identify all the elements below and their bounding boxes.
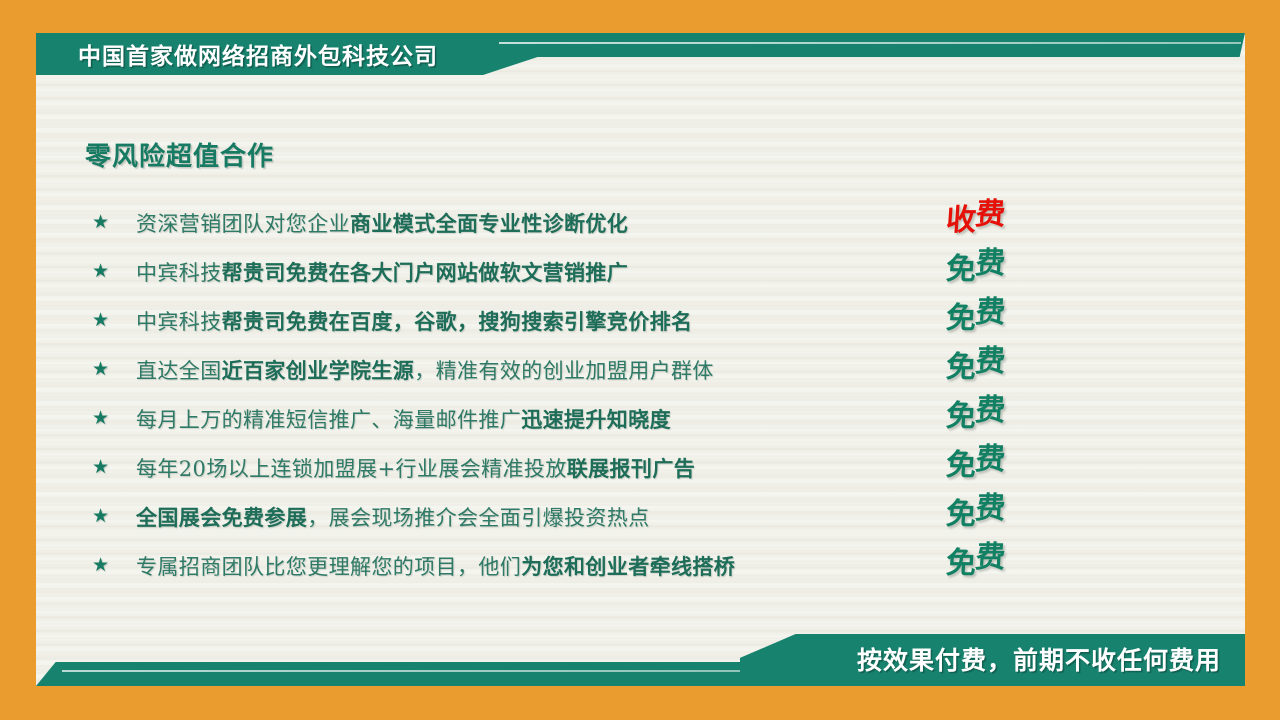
slide-root: 中国首家做网络招商外包科技公司 零风险超值合作 ★资深营销团队对您企业商业模式全… [0,0,1280,720]
benefit-text-emphasis: 为您和创业者牵线搭桥 [521,554,735,579]
benefit-text-emphasis: 联展报刊广告 [567,456,695,481]
fee-row: 免费 [946,245,1066,294]
footer-band: 按效果付费，前期不收任何费用 [36,634,1245,686]
benefit-text: 中宾科技帮贵司免费在各大门户网站做软文营销推广 [136,257,952,287]
star-icon: ★ [92,556,136,575]
fee-badge-free: 免费 [945,353,1005,383]
fee-row: 免费 [946,441,1066,490]
star-icon: ★ [92,311,136,330]
footer-green-strip [36,662,856,686]
benefit-text: 中宾科技帮贵司免费在百度，谷歌，搜狗搜索引擎竞价排名 [136,306,952,336]
footer-green-block: 按效果付费，前期不收任何费用 [740,634,1245,686]
star-icon: ★ [92,409,136,428]
star-icon: ★ [92,458,136,477]
benefit-row: ★中宾科技帮贵司免费在各大门户网站做软文营销推广 [92,247,952,296]
fee-badge-free: 免费 [945,304,1005,334]
benefit-row: ★专属招商团队比您更理解您的项目，他们为您和创业者牵线搭桥 [92,541,952,590]
fee-row: 免费 [946,392,1066,441]
fee-row: 收费 [946,196,1066,245]
benefit-row: ★每年20场以上连锁加盟展+行业展会精准投放联展报刊广告 [92,443,952,492]
star-icon: ★ [92,360,136,379]
fee-badge-free: 免费 [945,255,1005,285]
fee-row: 免费 [946,539,1066,588]
header-title: 中国首家做网络招商外包科技公司 [78,37,438,71]
benefit-list: ★资深营销团队对您企业商业模式全面专业性诊断优化★中宾科技帮贵司免费在各大门户网… [92,198,952,590]
fee-badge-free: 免费 [945,451,1005,481]
fee-badge-free: 免费 [945,500,1005,530]
fee-badge-free: 免费 [945,402,1005,432]
star-icon: ★ [92,507,136,526]
header-band: 中国首家做网络招商外包科技公司 [36,33,1245,75]
page-title: 零风险超值合作 [85,136,274,173]
header-hairline [499,42,1241,44]
benefit-row: ★中宾科技帮贵司免费在百度，谷歌，搜狗搜索引擎竞价排名 [92,296,952,345]
benefit-row: ★资深营销团队对您企业商业模式全面专业性诊断优化 [92,198,952,247]
benefit-text: 全国展会免费参展，展会现场推介会全面引爆投资热点 [136,502,952,532]
fee-row: 免费 [946,294,1066,343]
footer-text: 按效果付费，前期不收任何费用 [857,641,1221,677]
fee-badge-paid: 收费 [945,206,1005,236]
benefit-row: ★全国展会免费参展，展会现场推介会全面引爆投资热点 [92,492,952,541]
benefit-text: 直达全国近百家创业学院生源，精准有效的创业加盟用户群体 [136,355,952,385]
header-green-strip [476,33,1245,57]
footer-hairline [62,670,822,672]
benefit-row: ★每月上万的精准短信推广、海量邮件推广迅速提升知晓度 [92,394,952,443]
benefit-text-emphasis: 全国展会免费参展 [136,505,307,530]
benefit-text-emphasis: 近百家创业学院生源 [222,358,415,383]
benefit-text-emphasis: 帮贵司免费在各大门户网站做软文营销推广 [222,260,629,285]
fee-row: 免费 [946,490,1066,539]
benefit-row: ★直达全国近百家创业学院生源，精准有效的创业加盟用户群体 [92,345,952,394]
star-icon: ★ [92,213,136,232]
fee-column: 收费免费免费免费免费免费免费免费 [946,196,1066,588]
benefit-text: 每年20场以上连锁加盟展+行业展会精准投放联展报刊广告 [136,453,952,483]
fee-row: 免费 [946,343,1066,392]
benefit-text: 资深营销团队对您企业商业模式全面专业性诊断优化 [136,208,952,238]
fee-badge-free: 免费 [945,549,1005,579]
benefit-text-emphasis: 帮贵司免费在百度，谷歌，搜狗搜索引擎竞价排名 [222,309,693,334]
benefit-text-emphasis: 商业模式全面专业性诊断优化 [350,211,628,236]
star-icon: ★ [92,262,136,281]
benefit-text: 专属招商团队比您更理解您的项目，他们为您和创业者牵线搭桥 [136,551,952,581]
benefit-text-emphasis: 迅速提升知晓度 [521,407,671,432]
benefit-text: 每月上万的精准短信推广、海量邮件推广迅速提升知晓度 [136,404,952,434]
